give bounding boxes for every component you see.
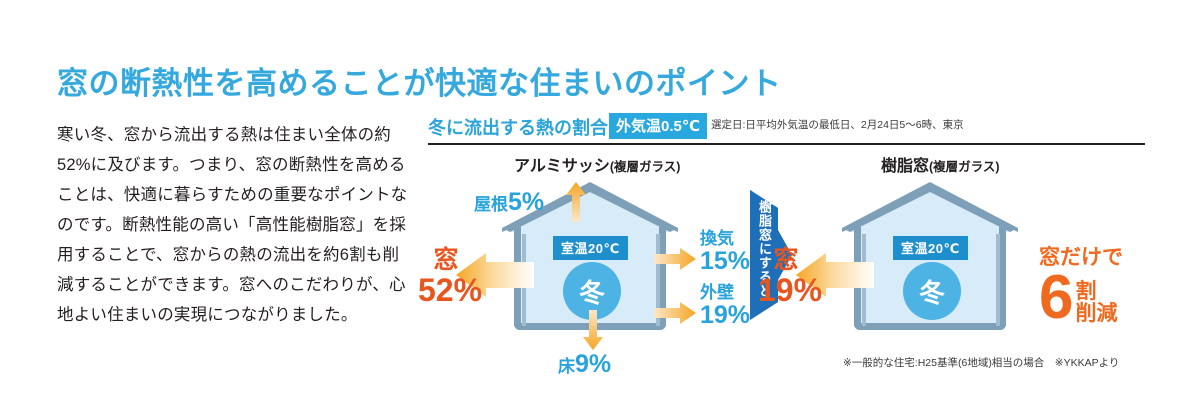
label-floor-value: 9% — [575, 350, 611, 378]
house-left-title-main: アルミサッシ — [514, 158, 610, 175]
footnote: ※一般的な住宅:H25基準(6地域)相当の場合 ※YKKAPより — [843, 355, 1119, 370]
house-right-title-sub: (複層ガラス) — [929, 160, 1000, 174]
label-window-right: 窓 19% — [758, 248, 814, 307]
panel-note: 選定日:日平均外気温の最低日、2月24日5～6時、東京 — [711, 117, 964, 132]
infographic-root: 窓の断熱性を高めることが快適な住まいのポイント 寒い冬、窓から流出する熱は住まい… — [0, 0, 1200, 406]
savings-callout-stack: 割 削減 — [1073, 269, 1117, 325]
label-window-right-word: 窓 — [758, 248, 814, 273]
wall-line-right-b — [996, 234, 1000, 326]
season-circle-right: 冬 — [903, 262, 961, 320]
label-vent-value: 15% — [700, 248, 750, 274]
outside-temperature-badge: 外気温0.5℃ — [609, 113, 707, 139]
label-window-right-value: 19% — [758, 273, 814, 307]
page-title: 窓の断熱性を高めることが快適な住まいのポイント — [57, 58, 782, 103]
house-left-title-sub: (複層ガラス) — [610, 160, 681, 174]
diagram-stage: アルミサッシ(複層ガラス) 室温20℃ 冬 — [428, 152, 1148, 392]
panel-header-title: 冬に流出する熱の割合 — [428, 114, 608, 140]
label-vent-word: 換気 — [700, 230, 750, 248]
label-roof-word: 屋根 — [474, 195, 508, 214]
wall-arrow-icon — [654, 302, 696, 324]
floor-arrow-icon — [583, 310, 603, 350]
savings-callout: 窓だけで 6 割 削減 — [1039, 246, 1123, 327]
label-wall-word: 外壁 — [700, 284, 750, 302]
label-wall-value: 19% — [700, 302, 750, 328]
label-floor: 床9% — [558, 350, 611, 379]
body-copy-text: 寒い冬、窓から流出する熱は住まい全体の約52%に及びます。つまり、窓の断熱性を高… — [57, 120, 412, 330]
roof-shape-right — [840, 180, 1020, 232]
vent-arrow-icon — [654, 248, 696, 270]
house-right-title-main: 樹脂窓 — [881, 158, 929, 175]
savings-callout-number: 6 — [1039, 269, 1073, 327]
label-window-left-value: 52% — [418, 273, 474, 307]
label-floor-word: 床 — [558, 357, 575, 376]
label-roof-value: 5% — [508, 188, 544, 216]
label-vent: 換気 15% — [700, 230, 750, 274]
label-window-left-word: 窓 — [418, 248, 474, 273]
label-wall: 外壁 19% — [700, 284, 750, 328]
panel-header: 冬に流出する熱の割合 外気温0.5℃ 選定日:日平均外気温の最低日、2月24日5… — [428, 112, 1148, 142]
panel-divider — [428, 143, 1145, 145]
savings-callout-verb: 削減 — [1075, 303, 1117, 325]
room-temp-right: 室温20℃ — [893, 236, 968, 260]
heat-loss-panel: 冬に流出する熱の割合 外気温0.5℃ 選定日:日平均外気温の最低日、2月24日5… — [428, 112, 1148, 390]
body-copy: 寒い冬、窓から流出する熱は住まい全体の約52%に及びます。つまり、窓の断熱性を高… — [57, 120, 412, 330]
room-temp-left: 室温20℃ — [553, 236, 628, 260]
label-roof: 屋根5% — [474, 188, 544, 217]
savings-callout-row: 6 割 削減 — [1039, 269, 1123, 327]
house-left-title: アルミサッシ(複層ガラス) — [514, 152, 680, 176]
house-right-title: 樹脂窓(複層ガラス) — [881, 152, 1000, 176]
label-window-left: 窓 52% — [418, 248, 474, 307]
roof-arrow-icon — [566, 182, 586, 222]
savings-callout-unit: 割 — [1075, 281, 1117, 303]
